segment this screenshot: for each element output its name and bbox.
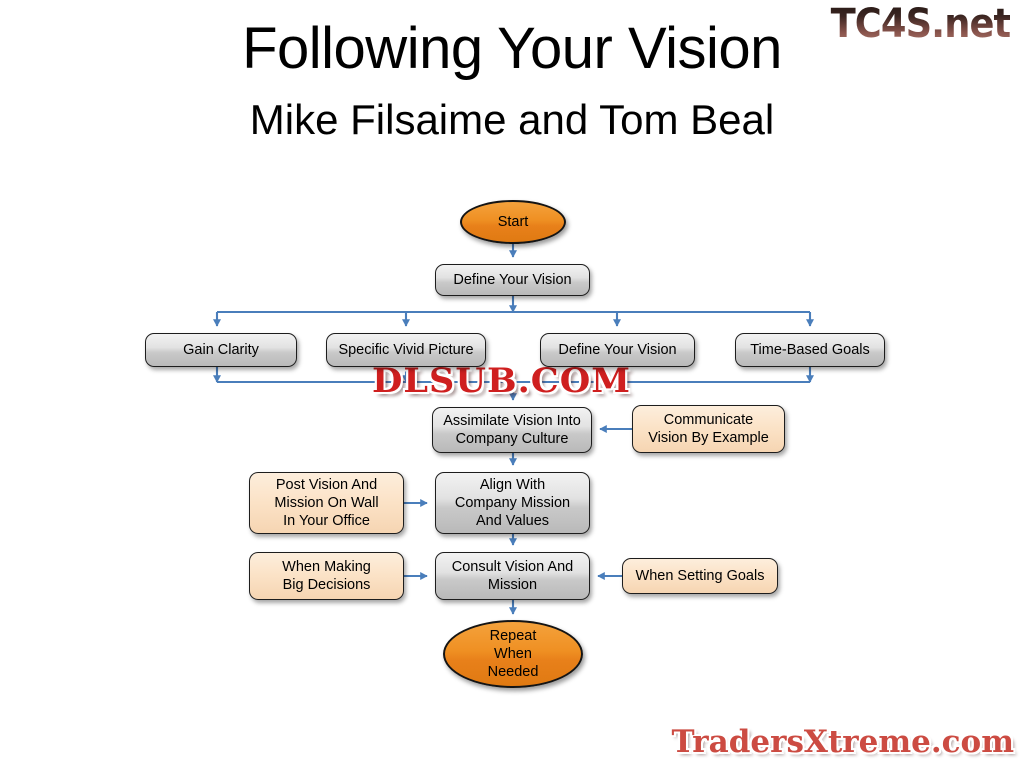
slide-canvas: Following Your Vision Mike Filsaime and … bbox=[0, 0, 1024, 768]
node-align-with-company-mission[interactable]: Align WithCompany MissionAnd Values bbox=[435, 472, 590, 534]
node-specific-vivid-picture-label: Specific Vivid Picture bbox=[332, 341, 479, 359]
node-when-making-big-decisions-label: When MakingBig Decisions bbox=[276, 558, 377, 594]
node-consult-vision-and-mission[interactable]: Consult Vision AndMission bbox=[435, 552, 590, 600]
watermark-dlsub: DLSUB.COM bbox=[372, 362, 631, 400]
node-communicate-vision-label: CommunicateVision By Example bbox=[642, 411, 775, 447]
node-time-based-goals[interactable]: Time-Based Goals bbox=[735, 333, 885, 367]
node-start[interactable]: Start bbox=[460, 200, 566, 244]
node-repeat-when-needed-label: RepeatWhenNeeded bbox=[482, 627, 545, 681]
node-define-your-vision-row-label: Define Your Vision bbox=[552, 341, 682, 359]
node-start-label: Start bbox=[492, 213, 535, 231]
node-gain-clarity-label: Gain Clarity bbox=[177, 341, 265, 359]
node-define-your-vision-top-label: Define Your Vision bbox=[447, 271, 577, 289]
node-time-based-goals-label: Time-Based Goals bbox=[744, 341, 876, 359]
watermark-tradersxtreme: TradersXtreme.com bbox=[671, 724, 1014, 760]
node-when-making-big-decisions[interactable]: When MakingBig Decisions bbox=[249, 552, 404, 600]
node-define-your-vision-top[interactable]: Define Your Vision bbox=[435, 264, 590, 296]
node-align-with-company-mission-label: Align WithCompany MissionAnd Values bbox=[449, 476, 576, 530]
node-gain-clarity[interactable]: Gain Clarity bbox=[145, 333, 297, 367]
node-consult-vision-and-mission-label: Consult Vision AndMission bbox=[446, 558, 579, 594]
node-post-vision-and-mission[interactable]: Post Vision AndMission On WallIn Your Of… bbox=[249, 472, 404, 534]
node-assimilate-vision[interactable]: Assimilate Vision IntoCompany Culture bbox=[432, 407, 592, 453]
node-specific-vivid-picture[interactable]: Specific Vivid Picture bbox=[326, 333, 486, 367]
node-communicate-vision[interactable]: CommunicateVision By Example bbox=[632, 405, 785, 453]
node-when-setting-goals[interactable]: When Setting Goals bbox=[622, 558, 778, 594]
node-when-setting-goals-label: When Setting Goals bbox=[630, 567, 771, 585]
node-define-your-vision-row[interactable]: Define Your Vision bbox=[540, 333, 695, 367]
node-repeat-when-needed[interactable]: RepeatWhenNeeded bbox=[443, 620, 583, 688]
node-post-vision-and-mission-label: Post Vision AndMission On WallIn Your Of… bbox=[268, 476, 384, 530]
node-assimilate-vision-label: Assimilate Vision IntoCompany Culture bbox=[437, 412, 587, 448]
